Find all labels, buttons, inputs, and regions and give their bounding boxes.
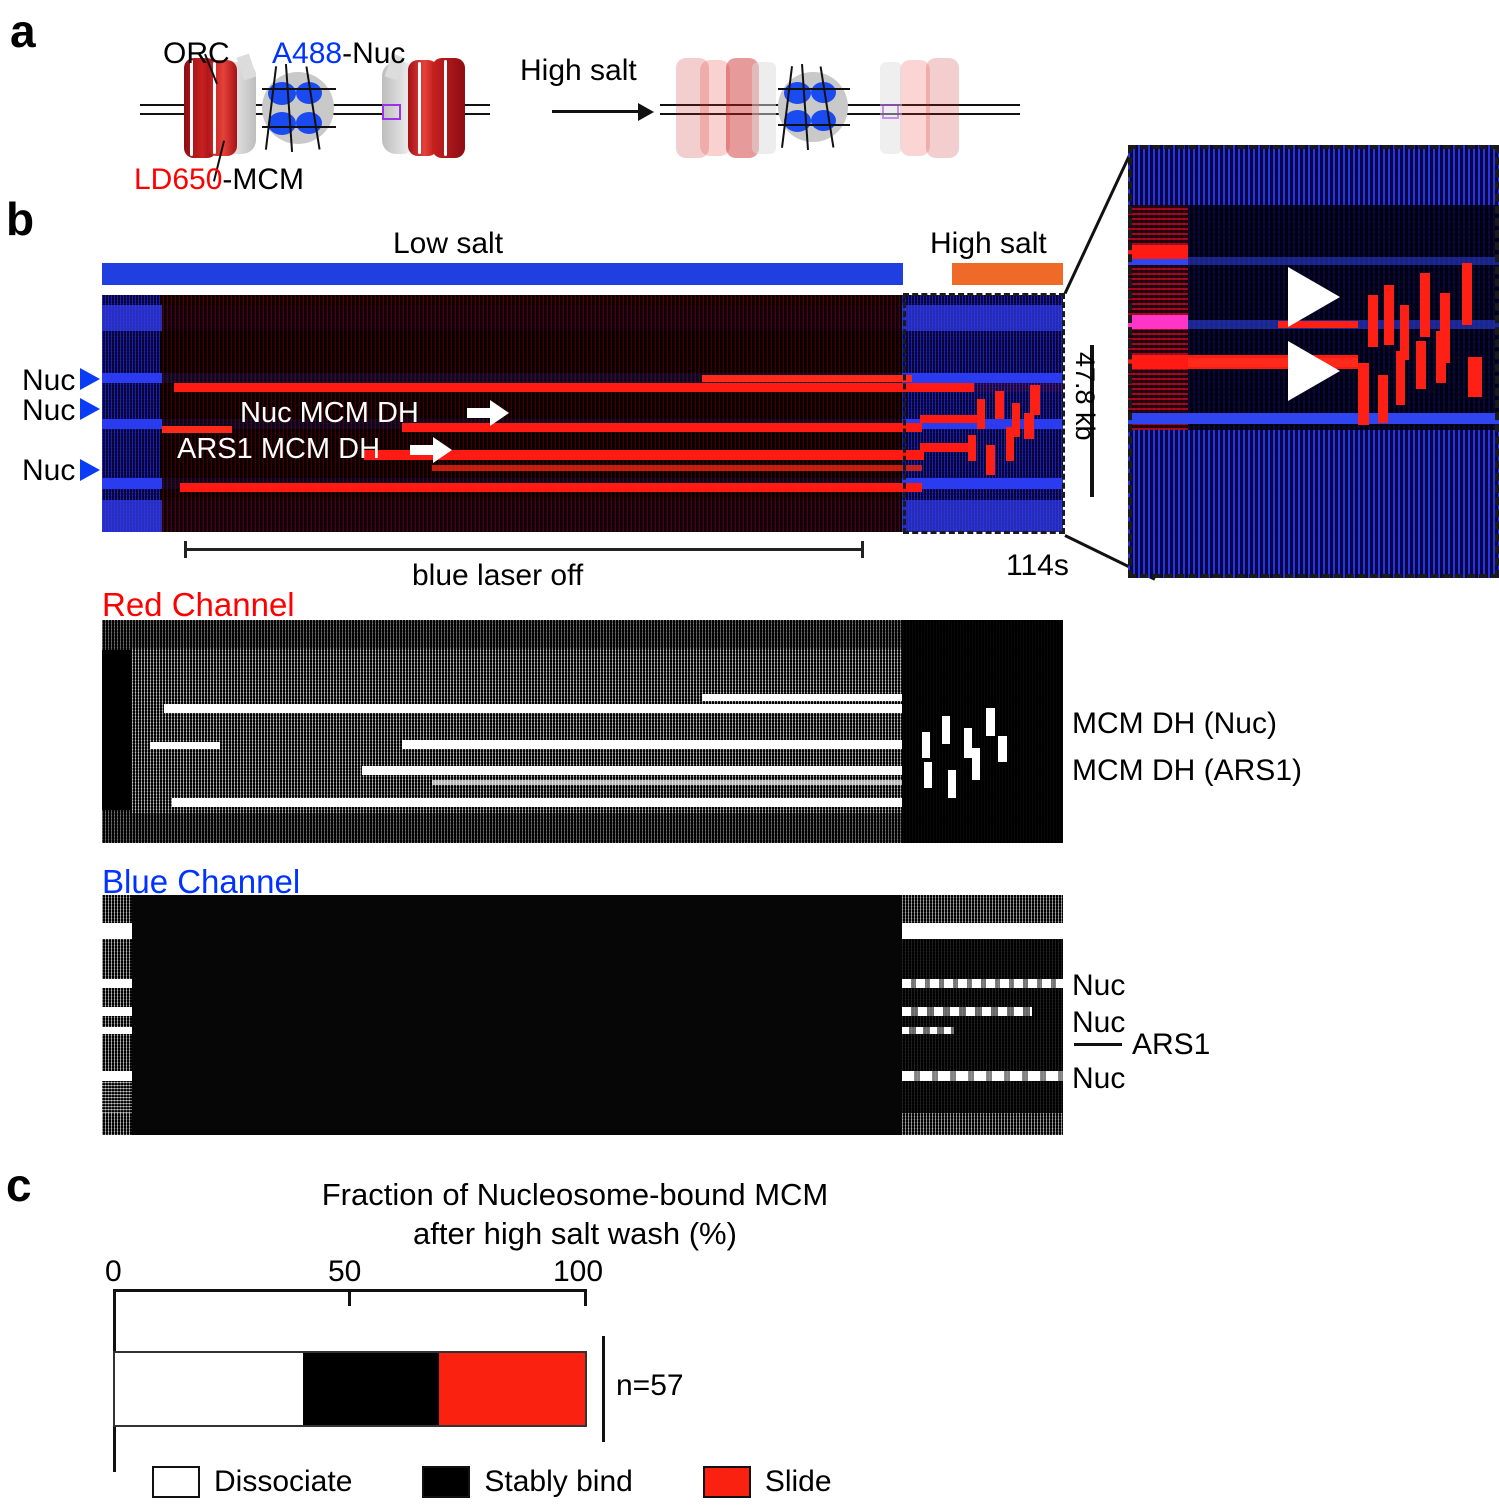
red-trace-nuc bbox=[164, 704, 902, 713]
mcm-ring-faded-5 bbox=[926, 58, 959, 158]
blue-laser-off-label: blue laser off bbox=[412, 558, 583, 594]
x-axis-tick-100 bbox=[584, 1289, 587, 1306]
blue-channel-label-ars1: ARS1 bbox=[1132, 1027, 1210, 1063]
blue-channel-label-nuc-2: Nuc bbox=[1072, 1005, 1125, 1041]
red-trace-ars1 bbox=[362, 766, 902, 775]
ars1-mcm-dh-arrow-icon bbox=[410, 445, 435, 455]
bar-segment-stably-bind bbox=[303, 1353, 439, 1425]
scale-bar-label-wrap: 47.8 kb bbox=[1070, 352, 1100, 492]
bar-segment-dissociate bbox=[115, 1353, 303, 1425]
mcm-trace-nuc-2 bbox=[402, 423, 922, 432]
bar-segment-slide bbox=[439, 1353, 585, 1425]
legend-swatch-dissociate bbox=[152, 1466, 200, 1498]
x-axis-label-0: 0 bbox=[105, 1255, 122, 1289]
panel-c-chart: Fraction of Nucleosome-bound MCM after h… bbox=[0, 1150, 1499, 1512]
high-salt-zoom-region bbox=[903, 293, 1065, 534]
sample-size-label: n=57 bbox=[616, 1369, 684, 1403]
nuc-marker-label-3: Nuc bbox=[22, 453, 75, 489]
blue-trace-nuc-1 bbox=[102, 979, 132, 988]
annotation-ars1-mcm-dh: ARS1 MCM DH bbox=[177, 433, 380, 466]
blue-laser-off-bracket bbox=[184, 541, 864, 557]
chart-legend: Dissociate Stably bind Slide bbox=[152, 1461, 902, 1503]
high-salt-condition-bar bbox=[952, 263, 1063, 285]
legend-label-dissociate: Dissociate bbox=[214, 1465, 352, 1499]
time-duration-label: 114s bbox=[1006, 548, 1069, 584]
legend-label-stably-bind: Stably bind bbox=[484, 1465, 632, 1499]
blue-trace-nuc-2 bbox=[102, 1007, 132, 1016]
nuc-marker-label-2: Nuc bbox=[22, 393, 75, 429]
nuc-marker-arrow-1 bbox=[80, 368, 100, 390]
inset-blue-band-3 bbox=[1128, 413, 1499, 424]
kymograph-red-channel bbox=[102, 620, 1063, 843]
sample-size-bracket bbox=[602, 1336, 605, 1442]
ars1-leader-line bbox=[1074, 1043, 1122, 1046]
low-salt-condition-bar bbox=[102, 263, 903, 285]
kymograph-zoom-inset bbox=[1128, 145, 1499, 578]
kymograph-blue-channel bbox=[102, 895, 1063, 1135]
right-arrow-head bbox=[638, 103, 654, 121]
nucleosome-label-dye: A488 bbox=[272, 37, 342, 70]
sliding-arrowhead-icon-1 bbox=[1288, 267, 1340, 327]
blue-trace-ars1 bbox=[102, 1027, 132, 1034]
panel-b-letter: b bbox=[6, 196, 34, 242]
nuc-marker-arrow-2 bbox=[80, 398, 100, 420]
nuc-marker-arrow-3 bbox=[80, 459, 100, 481]
scale-bar-label: 47.8 kb bbox=[1069, 352, 1100, 441]
red-channel-label-nuc: MCM DH (Nuc) bbox=[1072, 706, 1277, 742]
mcm-label: LD650-MCM bbox=[134, 162, 304, 198]
panel-a-schematic: ORC A488-Nuc LD650-MCM High salt bbox=[0, 0, 1100, 200]
legend-label-slide: Slide bbox=[765, 1465, 832, 1499]
nuc-mcm-dh-arrow-icon bbox=[467, 408, 492, 418]
x-axis-label-50: 50 bbox=[328, 1255, 361, 1289]
blue-trace-nuc-3 bbox=[102, 1071, 132, 1081]
legend-swatch-slide bbox=[703, 1466, 751, 1498]
mcm-trace-bottom bbox=[180, 483, 922, 492]
x-axis-label-100: 100 bbox=[553, 1255, 603, 1289]
chart-title-line-2: after high salt wash (%) bbox=[255, 1215, 895, 1254]
nucleosome-label-text: -Nuc bbox=[342, 37, 405, 70]
x-axis-tick-50 bbox=[348, 1289, 351, 1306]
high-salt-label: High salt bbox=[930, 226, 1047, 262]
nucleosome-label: A488-Nuc bbox=[272, 36, 405, 72]
red-channel-label-ars1: MCM DH (ARS1) bbox=[1072, 753, 1302, 789]
mcm-label-dye: LD650 bbox=[134, 163, 222, 196]
annotation-nuc-mcm-dh: Nuc MCM DH bbox=[240, 397, 419, 430]
mcm-label-text: -MCM bbox=[222, 163, 304, 196]
high-salt-transition-label: High salt bbox=[520, 53, 637, 89]
right-arrow-icon bbox=[552, 110, 642, 113]
orc-faded-left bbox=[752, 62, 776, 154]
sliding-arrowhead-icon-2 bbox=[1288, 341, 1340, 401]
blue-channel-label-nuc-1: Nuc bbox=[1072, 968, 1125, 1004]
red-channel-title: Red Channel bbox=[102, 585, 295, 625]
chart-title: Fraction of Nucleosome-bound MCM after h… bbox=[255, 1176, 895, 1254]
stacked-bar bbox=[113, 1351, 587, 1427]
low-salt-label: Low salt bbox=[393, 226, 503, 262]
orc-label: ORC bbox=[163, 36, 230, 72]
chart-title-line-1: Fraction of Nucleosome-bound MCM bbox=[255, 1176, 895, 1215]
mcm-ring-right-2 bbox=[432, 58, 465, 158]
legend-swatch-stably-bind bbox=[422, 1466, 470, 1498]
blue-channel-label-nuc-3: Nuc bbox=[1072, 1061, 1125, 1097]
